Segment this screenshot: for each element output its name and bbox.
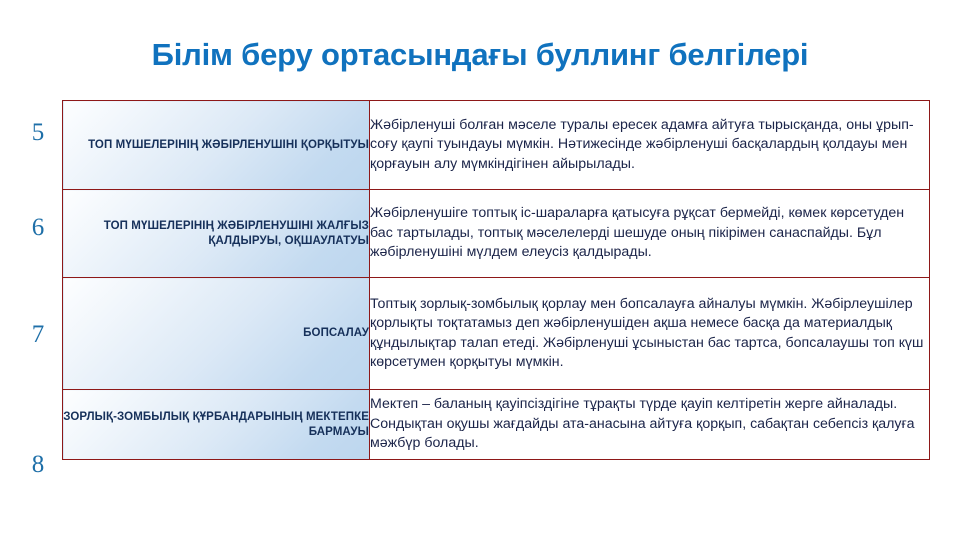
row-description: Мектеп – баланың қауіпсіздігіне тұрақты …	[370, 395, 929, 453]
margin-number-2: 6	[26, 215, 50, 240]
page-title: Білім беру ортасындағы буллинг белгілері	[24, 36, 936, 74]
row-description: Жәбірленуші болған мәселе туралы ересек …	[370, 116, 929, 174]
margin-number-4: 8	[26, 452, 50, 477]
margin-number-3: 7	[26, 322, 50, 347]
table-cell-label: ЗОРЛЫҚ-ЗОМБЫЛЫҚ ҚҰРБАНДАРЫНЫҢ МЕКТЕПКЕ Б…	[63, 390, 370, 460]
row-description: Жәбірленушіге топтық іс-шараларға қатысу…	[370, 204, 929, 262]
margin-number-1: 5	[26, 120, 50, 145]
table-row: ЗОРЛЫҚ-ЗОМБЫЛЫҚ ҚҰРБАНДАРЫНЫҢ МЕКТЕПКЕ Б…	[63, 390, 930, 460]
table-row: БОПСАЛАУ Топтық зорлық-зомбылық қорлау м…	[63, 278, 930, 390]
row-label: ЗОРЛЫҚ-ЗОМБЫЛЫҚ ҚҰРБАНДАРЫНЫҢ МЕКТЕПКЕ Б…	[63, 410, 369, 439]
row-label: ТОП МҮШЕЛЕРІНІҢ ЖӘБІРЛЕНУШІНІ ҚОРҚЫТУЫ	[63, 138, 369, 153]
slide-canvas: Білім беру ортасындағы буллинг белгілері…	[0, 0, 960, 540]
row-label: ТОП МҮШЕЛЕРІНІҢ ЖӘБІРЛЕНУШІНІ ЖАЛҒЫЗ ҚАЛ…	[63, 219, 369, 248]
table-cell-description: Жәбірленушіге топтық іс-шараларға қатысу…	[370, 190, 930, 278]
table-cell-label: ТОП МҮШЕЛЕРІНІҢ ЖӘБІРЛЕНУШІНІ ҚОРҚЫТУЫ	[63, 101, 370, 190]
row-description: Топтық зорлық-зомбылық қорлау мен бопсал…	[370, 295, 929, 373]
table-cell-label: БОПСАЛАУ	[63, 278, 370, 390]
table-cell-description: Мектеп – баланың қауіпсіздігіне тұрақты …	[370, 390, 930, 460]
table-cell-label: ТОП МҮШЕЛЕРІНІҢ ЖӘБІРЛЕНУШІНІ ЖАЛҒЫЗ ҚАЛ…	[63, 190, 370, 278]
table-row: ТОП МҮШЕЛЕРІНІҢ ЖӘБІРЛЕНУШІНІ ЖАЛҒЫЗ ҚАЛ…	[63, 190, 930, 278]
table-cell-description: Жәбірленуші болған мәселе туралы ересек …	[370, 101, 930, 190]
bullying-signs-table: ТОП МҮШЕЛЕРІНІҢ ЖӘБІРЛЕНУШІНІ ҚОРҚЫТУЫ Ж…	[62, 100, 930, 460]
row-label: БОПСАЛАУ	[63, 326, 369, 341]
table-row: ТОП МҮШЕЛЕРІНІҢ ЖӘБІРЛЕНУШІНІ ҚОРҚЫТУЫ Ж…	[63, 101, 930, 190]
table-cell-description: Топтық зорлық-зомбылық қорлау мен бопсал…	[370, 278, 930, 390]
